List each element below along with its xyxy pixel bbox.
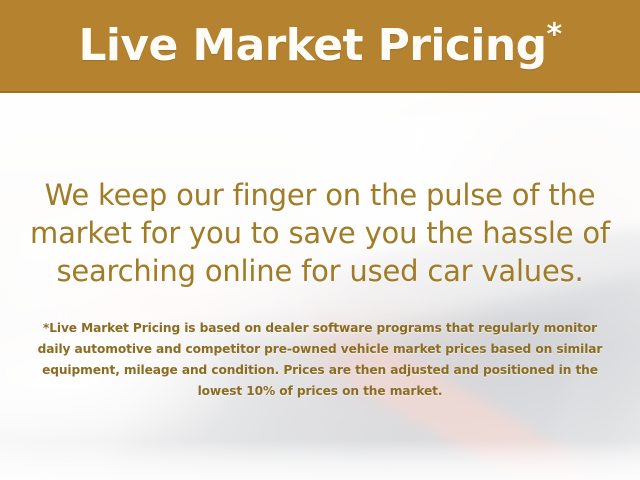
page-title-asterisk: *	[546, 17, 561, 52]
headline-line-3: searching online for used car values.	[0, 252, 640, 290]
headline-block: We keep our finger on the pulse of the m…	[0, 176, 640, 290]
headline-line-1: We keep our finger on the pulse of the	[0, 176, 640, 214]
disclaimer-line-4: lowest 10% of prices on the market.	[0, 381, 640, 402]
disclaimer-line-1: *Live Market Pricing is based on dealer …	[0, 318, 640, 339]
marketing-slide: Live Market Pricing* We keep our finger …	[0, 0, 640, 480]
headline-line-2: market for you to save you the hassle of	[0, 214, 640, 252]
disclaimer-block: *Live Market Pricing is based on dealer …	[0, 318, 640, 402]
disclaimer-line-3: equipment, mileage and condition. Prices…	[0, 360, 640, 381]
disclaimer-line-2: daily automotive and competitor pre-owne…	[0, 339, 640, 360]
page-title-text: Live Market Pricing	[78, 20, 546, 71]
background-bottom-wash	[0, 440, 640, 480]
header-banner: Live Market Pricing*	[0, 0, 640, 93]
page-title: Live Market Pricing*	[78, 24, 561, 68]
